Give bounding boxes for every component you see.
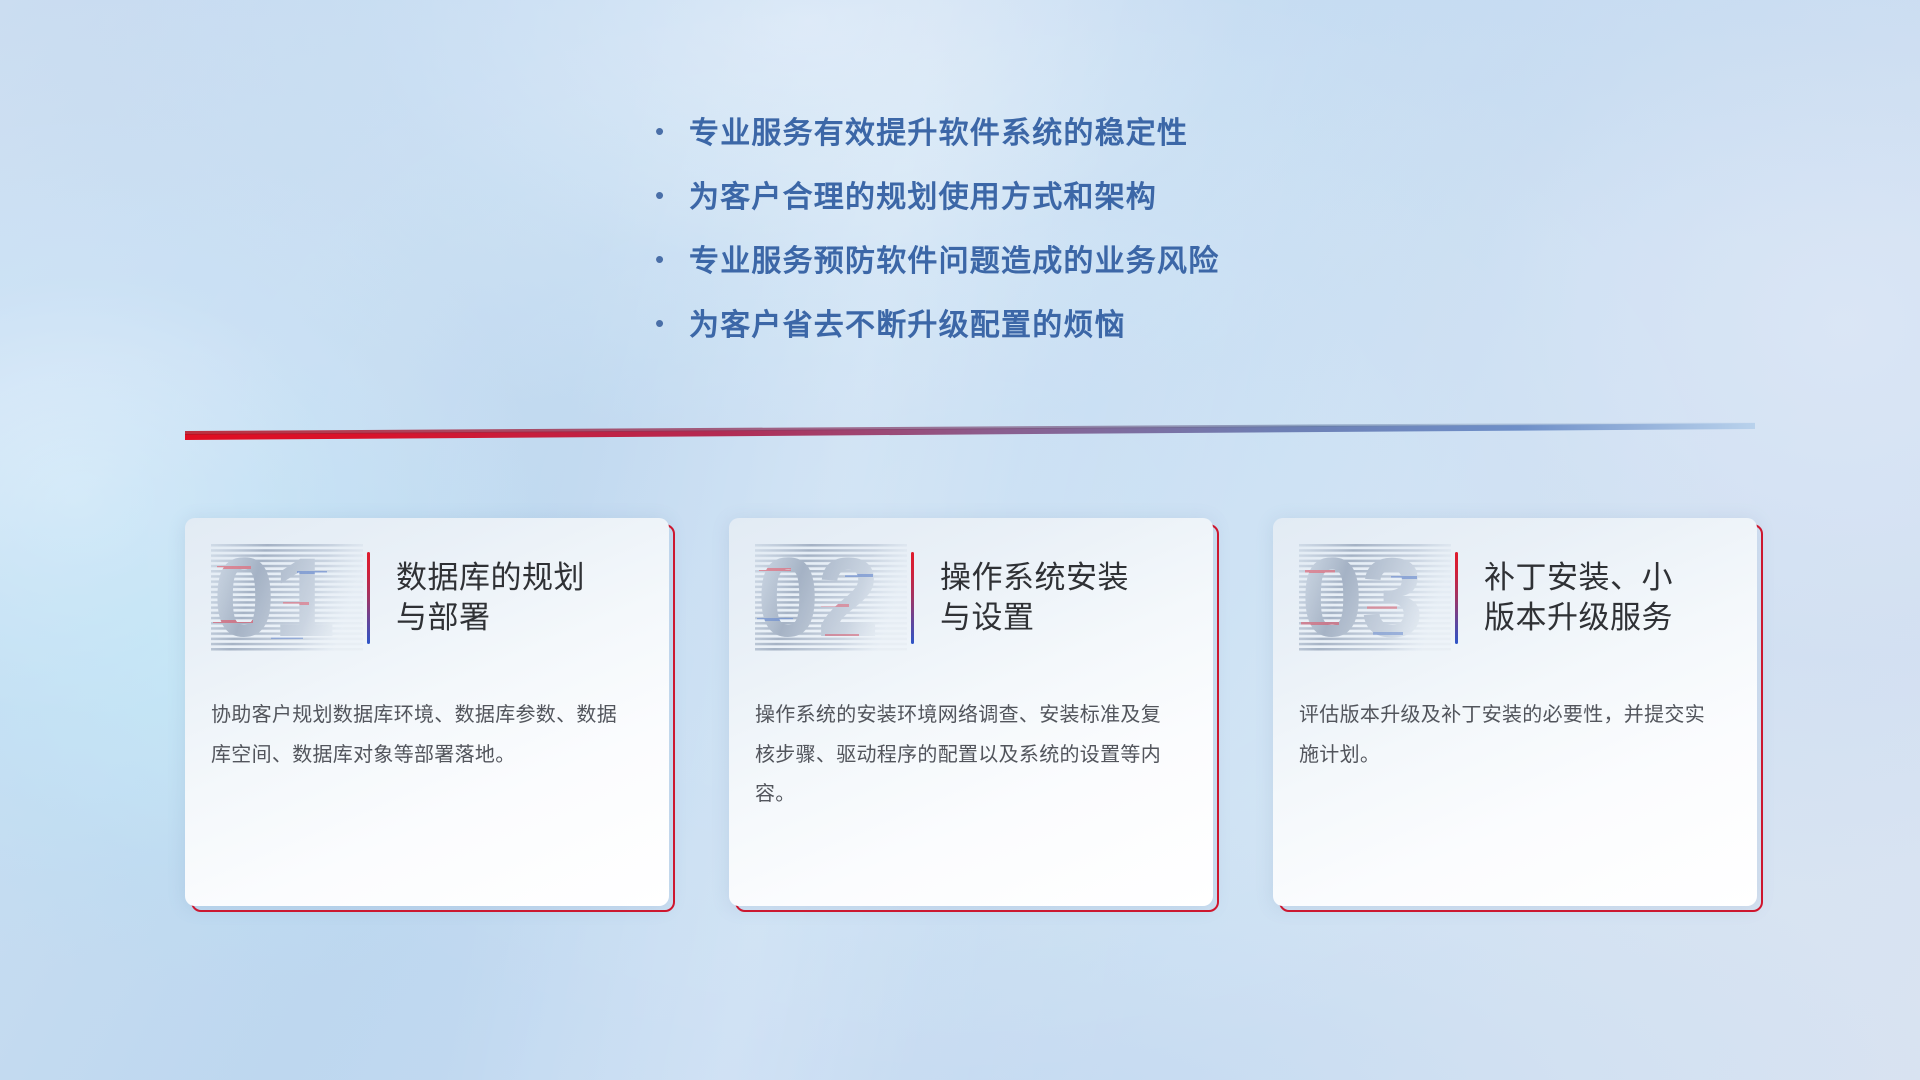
card-description: 评估版本升级及补丁安装的必要性，并提交实施计划。 xyxy=(1273,678,1757,775)
bullet-item: • 为客户合理的规划使用方式和架构 xyxy=(655,172,1635,236)
bullet-item: • 专业服务预防软件问题造成的业务风险 xyxy=(655,236,1635,300)
card-title: 补丁安装、小 版本升级服务 xyxy=(1484,558,1673,637)
card-surface: 03 xyxy=(1273,518,1757,906)
bullet-dot-icon: • xyxy=(655,182,689,208)
section-divider xyxy=(185,418,1755,440)
card-surface: 01 xyxy=(185,518,669,906)
divider-wedge-icon xyxy=(185,418,1755,440)
card-number-striped-icon: 02 xyxy=(755,544,907,652)
card-accent-rule xyxy=(911,552,914,644)
card-description: 操作系统的安装环境网络调查、安装标准及复核步骤、驱动程序的配置以及系统的设置等内… xyxy=(729,678,1213,815)
bullet-item-label: 为客户合理的规划使用方式和架构 xyxy=(689,172,1157,216)
card-header: 02 xyxy=(729,518,1213,678)
card-surface: 02 xyxy=(729,518,1213,906)
bullet-item-label: 为客户省去不断升级配置的烦恼 xyxy=(689,300,1126,344)
bullet-item-label: 专业服务预防软件问题造成的业务风险 xyxy=(689,236,1219,280)
bullet-item-label: 专业服务有效提升软件系统的稳定性 xyxy=(689,108,1188,152)
card-description: 协助客户规划数据库环境、数据库参数、数据库空间、数据库对象等部署落地。 xyxy=(185,678,669,775)
card-title: 数据库的规划 与部署 xyxy=(396,558,585,637)
card-title: 操作系统安装 与设置 xyxy=(940,558,1129,637)
bullet-item: • 为客户省去不断升级配置的烦恼 xyxy=(655,300,1635,364)
card-accent-rule xyxy=(367,552,370,644)
bullet-item: • 专业服务有效提升软件系统的稳定性 xyxy=(655,108,1635,172)
bullet-dot-icon: • xyxy=(655,118,689,144)
service-card[interactable]: 02 xyxy=(729,518,1213,906)
service-card[interactable]: 03 xyxy=(1273,518,1757,906)
card-header: 03 xyxy=(1273,518,1757,678)
service-card-list: 01 xyxy=(185,518,1757,906)
card-header: 01 xyxy=(185,518,669,678)
card-accent-rule xyxy=(1455,552,1458,644)
slide-canvas: • 专业服务有效提升软件系统的稳定性 • 为客户合理的规划使用方式和架构 • 专… xyxy=(0,0,1920,1080)
service-card[interactable]: 01 xyxy=(185,518,669,906)
benefits-bullet-list: • 专业服务有效提升软件系统的稳定性 • 为客户合理的规划使用方式和架构 • 专… xyxy=(655,108,1635,364)
bullet-dot-icon: • xyxy=(655,246,689,272)
card-number-striped-icon: 01 xyxy=(211,544,363,652)
bullet-dot-icon: • xyxy=(655,310,689,336)
card-number-striped-icon: 03 xyxy=(1299,544,1451,652)
